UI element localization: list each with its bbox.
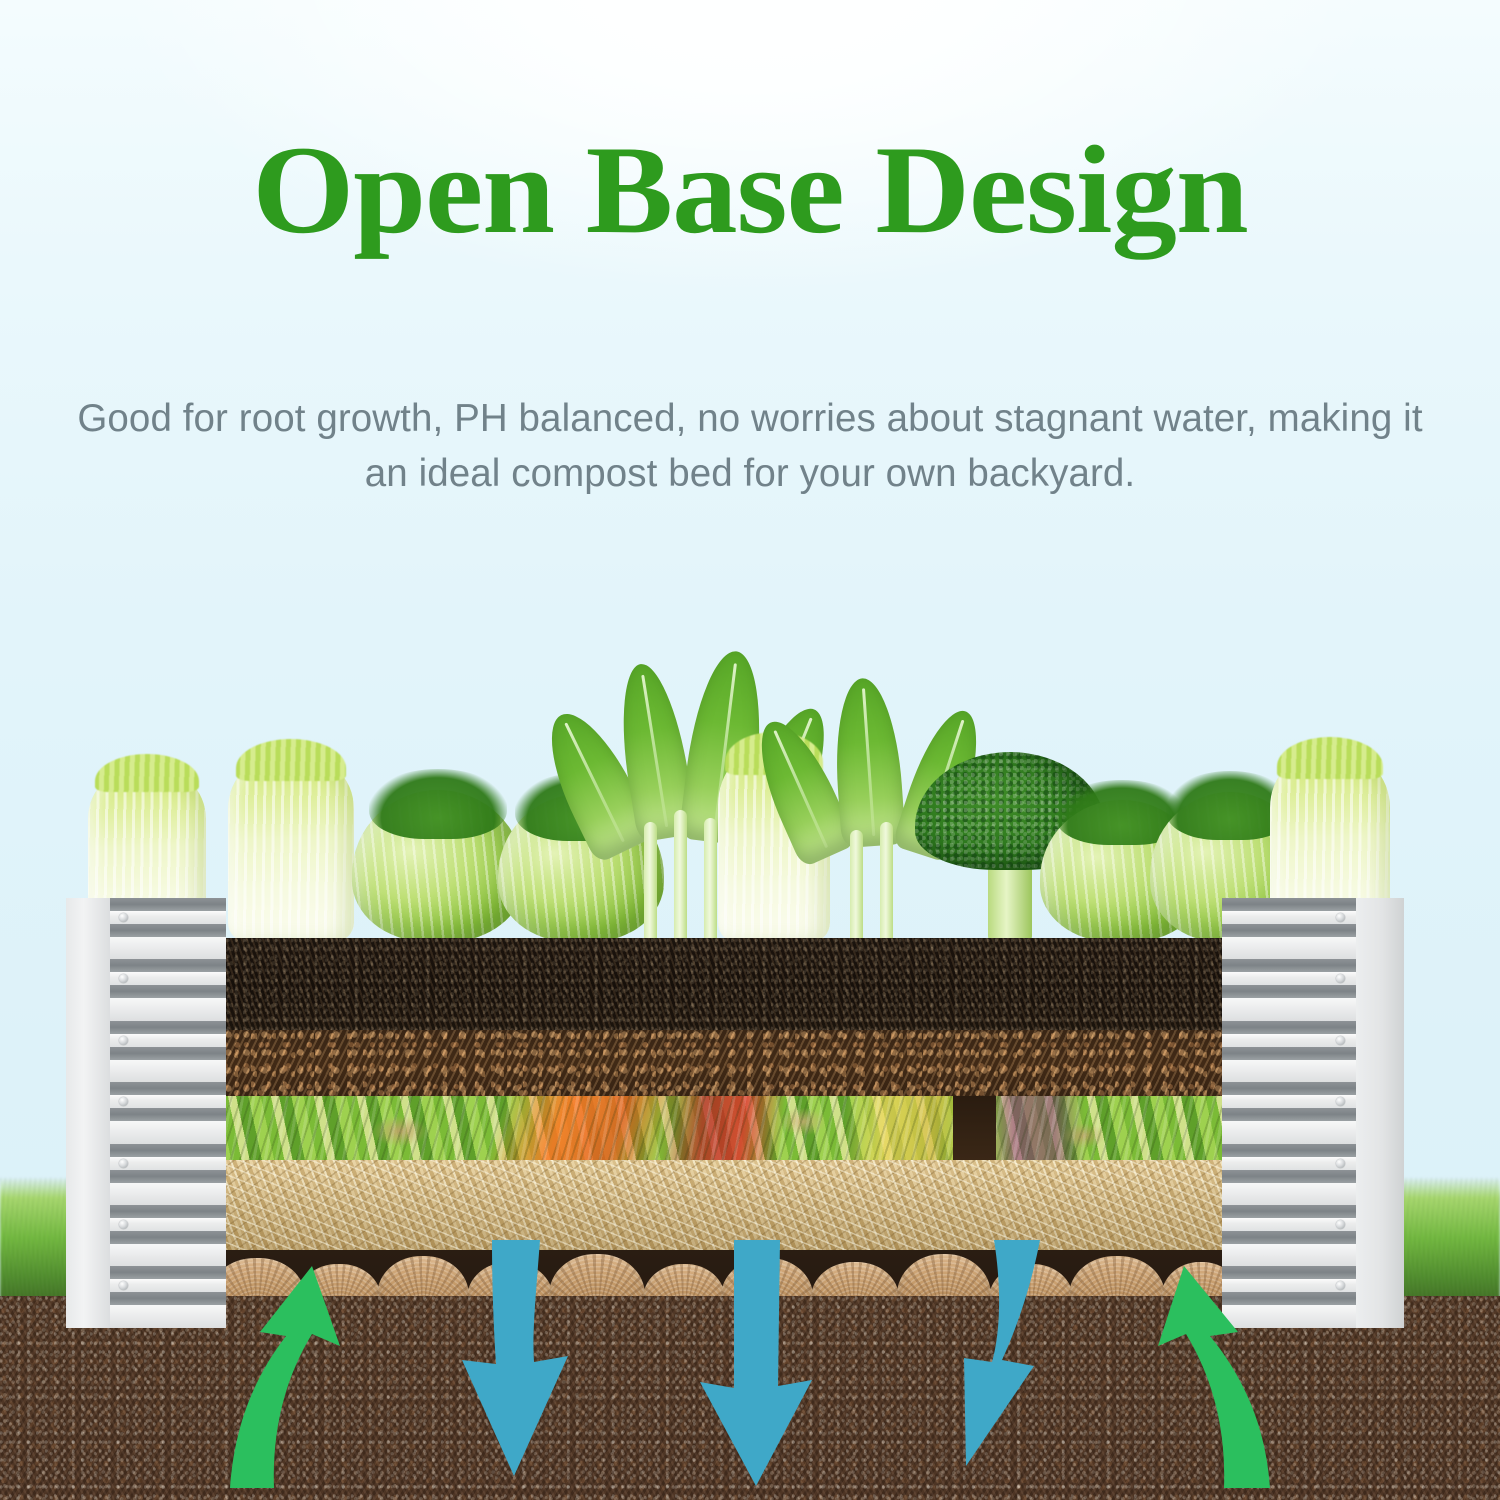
panel-screw-icon: [119, 1036, 128, 1045]
panel-screw-icon: [119, 1159, 128, 1168]
drainage-arrow-2: [680, 1240, 830, 1490]
page-title: Open Base Design: [0, 128, 1500, 254]
layer-straw: [219, 1160, 1225, 1250]
airflow-drainage-arrows: [0, 1240, 1500, 1500]
panel-screw-icon: [1336, 913, 1345, 922]
root-growth-arrow-left: [200, 1260, 390, 1490]
panel-screw-icon: [1336, 1220, 1345, 1229]
layer-compost-mulch: [219, 1030, 1225, 1096]
product-feature-graphic: Open Base Design Good for root growth, P…: [0, 0, 1500, 1500]
layer-scraps-dark-patch: [953, 1096, 995, 1160]
drainage-arrow-3: [930, 1240, 1080, 1480]
page-subtitle: Good for root growth, PH balanced, no wo…: [70, 392, 1430, 501]
panel-screw-icon: [119, 1220, 128, 1229]
layer-kitchen-scraps: [219, 1096, 1225, 1160]
panel-screw-icon: [1336, 1159, 1345, 1168]
drainage-arrow-1: [440, 1240, 590, 1480]
vegetable-row: [0, 620, 1500, 942]
panel-screw-icon: [119, 913, 128, 922]
panel-screw-icon: [1336, 1036, 1345, 1045]
root-growth-arrow-right: [1110, 1260, 1300, 1490]
veg-napa-cabbage: [228, 752, 354, 942]
layer-topsoil: [219, 938, 1225, 1030]
